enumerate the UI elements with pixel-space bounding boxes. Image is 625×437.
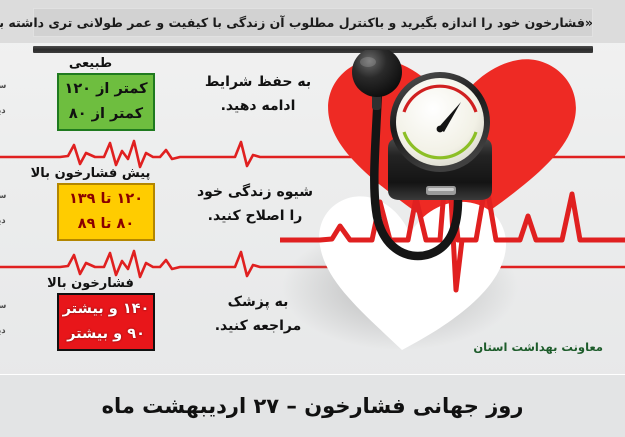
- infographic-poster: «فشارخون خود را اندازه بگیرید و باکنترل …: [0, 0, 625, 437]
- footer-band: روز جهانی فشارخون – ۲۷ اردیبهشت ماه: [0, 374, 625, 437]
- category-row-hypertension: فشارخون بالا سیستول دیاستول ۱۴۰ و بیشتر …: [0, 276, 175, 355]
- advice-normal-line1: به حفظ شرایط: [183, 70, 333, 94]
- systolic-label-normal: سیستول: [0, 81, 17, 91]
- advice-hypertension-line2: مراجعه کنید.: [183, 314, 333, 338]
- advice-prehypertension: شیوه زندگی خود را اصلاح کنید.: [180, 180, 330, 228]
- category-title-hypertension: فشارخون بالا: [0, 276, 175, 291]
- header-banner-text: «فشارخون خود را اندازه بگیرید و باکنترل …: [33, 8, 593, 37]
- advice-prehypertension-line2: را اصلاح کنید.: [180, 204, 330, 228]
- diastolic-value-prehypertension: ۸۰ تا ۸۹: [78, 212, 134, 237]
- diastolic-label-normal: دیاستول: [0, 106, 17, 116]
- category-title-prehypertension: پیش فشارخون بالا: [0, 166, 175, 181]
- systolic-value-hypertension: ۱۴۰ و بیشتر: [63, 297, 150, 322]
- systolic-label-prehypertension: سیستول: [0, 191, 17, 201]
- value-box-prehypertension: ۱۲۰ تا ۱۳۹ ۸۰ تا ۸۹: [57, 183, 155, 241]
- advice-hypertension: به پزشک مراجعه کنید.: [183, 290, 333, 338]
- footer-title: روز جهانی فشارخون – ۲۷ اردیبهشت ماه: [102, 394, 524, 418]
- category-title-normal: طبیعی: [0, 56, 175, 71]
- value-wrap-hypertension: سیستول دیاستول ۱۴۰ و بیشتر ۹۰ و بیشتر: [0, 293, 175, 355]
- systolic-label-hypertension: سیستول: [0, 301, 17, 311]
- pressure-gauge-icon: [390, 72, 490, 172]
- systolic-value-normal: کمتر از ۱۲۰: [64, 77, 147, 102]
- advice-normal: به حفظ شرایط ادامه دهید.: [183, 70, 333, 118]
- advice-hypertension-line1: به پزشک: [183, 290, 333, 314]
- category-row-normal: طبیعی سیستول دیاستول کمتر از ۱۲۰ کمتر از…: [0, 56, 175, 135]
- advice-prehypertension-line1: شیوه زندگی خود: [180, 180, 330, 204]
- value-wrap-normal: سیستول دیاستول کمتر از ۱۲۰ کمتر از ۸۰: [0, 73, 175, 135]
- category-row-prehypertension: پیش فشارخون بالا سیستول دیاستول ۱۲۰ تا ۱…: [0, 166, 175, 245]
- organization-credit: معاونت بهداشت استان: [473, 340, 603, 354]
- value-wrap-prehypertension: سیستول دیاستول ۱۲۰ تا ۱۳۹ ۸۰ تا ۸۹: [0, 183, 175, 245]
- value-box-normal: کمتر از ۱۲۰ کمتر از ۸۰: [57, 73, 155, 131]
- advice-normal-line2: ادامه دهید.: [183, 94, 333, 118]
- value-box-hypertension: ۱۴۰ و بیشتر ۹۰ و بیشتر: [57, 293, 155, 351]
- diastolic-label-prehypertension: دیاستول: [0, 216, 17, 226]
- systolic-value-prehypertension: ۱۲۰ تا ۱۳۹: [69, 187, 143, 212]
- diastolic-value-hypertension: ۹۰ و بیشتر: [67, 322, 145, 347]
- diastolic-value-normal: کمتر از ۸۰: [69, 102, 143, 127]
- diastolic-label-hypertension: دیاستول: [0, 326, 17, 336]
